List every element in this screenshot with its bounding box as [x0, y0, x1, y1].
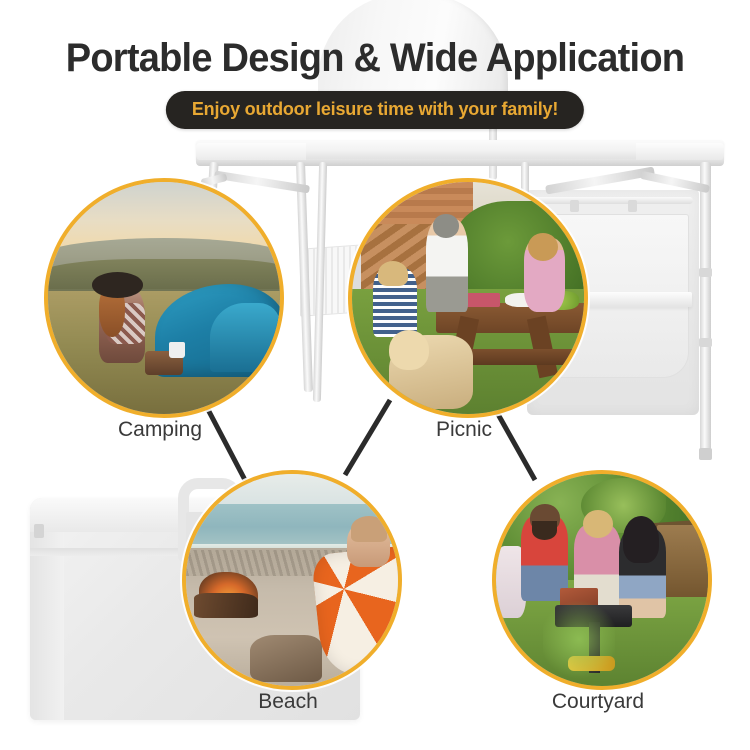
woman-hair	[623, 516, 659, 563]
beach-photo	[186, 474, 398, 686]
beard	[532, 521, 557, 540]
scene-label-picnic: Picnic	[348, 418, 580, 442]
scene-label-camping: Camping	[44, 418, 276, 442]
man-pink-shirt-head	[583, 510, 613, 538]
person-hair	[351, 516, 387, 541]
dog-head	[389, 330, 428, 369]
green-hedge	[454, 201, 588, 303]
scene-circle-courtyard[interactable]	[492, 470, 712, 690]
scene-circle-beach[interactable]	[182, 470, 402, 690]
tent-vestibule	[210, 303, 280, 373]
promo-banner: Portable Design & Wide Application Enjoy…	[0, 0, 750, 750]
scene-label-courtyard: Courtyard	[492, 690, 704, 714]
firewood-logs	[194, 593, 258, 618]
camper-hat	[92, 272, 143, 298]
standing-woman-hair	[433, 214, 459, 237]
camp-mug	[169, 342, 185, 358]
picnic-photo	[352, 182, 584, 414]
page-title: Portable Design & Wide Application	[19, 36, 732, 81]
scene-label-beach: Beach	[182, 690, 394, 714]
foreground-leaf-blur	[543, 597, 615, 682]
courtyard-photo	[496, 474, 708, 686]
camping-photo	[48, 182, 280, 414]
scene-circle-picnic[interactable]	[348, 178, 588, 418]
seated-woman-hair	[378, 261, 408, 287]
scene-circle-camping[interactable]	[44, 178, 284, 418]
driftwood-rock	[250, 635, 322, 682]
subtitle-badge: Enjoy outdoor leisure time with your fam…	[166, 91, 584, 129]
